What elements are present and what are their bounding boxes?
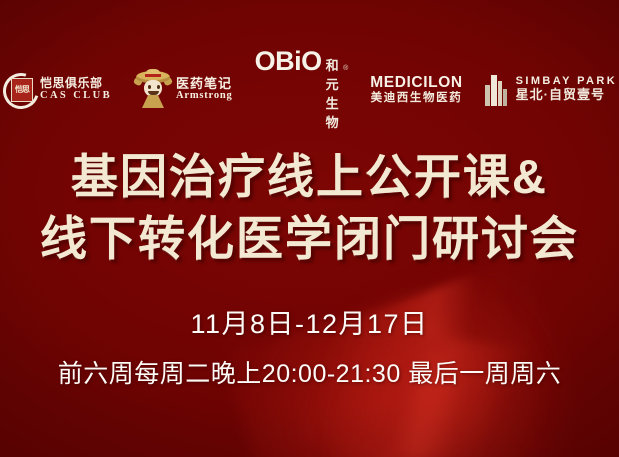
- event-title-line-2: 线下转化医学闭门研讨会: [0, 208, 619, 270]
- medicilon-cn-name: 美迪西生物医药: [370, 92, 462, 104]
- medicilon-en-name: MEDICILON: [370, 74, 462, 92]
- cas-club-monogram-icon: 恺思: [2, 72, 36, 106]
- logo-medicilon: MEDICILON 美迪西生物医药: [359, 74, 473, 104]
- obio-cn-name: 和元生物: [326, 55, 340, 131]
- registered-trademark-icon: ®: [343, 65, 348, 72]
- event-date-range: 11月8日-12月17日: [0, 302, 619, 341]
- simbay-park-cn-name: 星北·自贸壹号: [516, 88, 617, 102]
- cas-club-cn-name: 恺思俱乐部: [40, 77, 112, 90]
- armstrong-en-name: Armstrong: [176, 90, 233, 101]
- obio-wordmark-icon: OBiO: [255, 48, 322, 75]
- cas-club-en-name: CAS CLUB: [40, 90, 112, 101]
- logo-armstrong: 医药笔记 Armstrong: [123, 69, 244, 109]
- logo-obio: OBiO 和元生物 ®: [244, 48, 360, 131]
- partner-logo-strip: 恺思 恺思俱乐部 CAS CLUB 医药笔记 Ar: [0, 58, 619, 120]
- event-title-line-1: 基因治疗线上公开课&: [0, 146, 619, 208]
- ribbon-swoop: [205, 247, 614, 457]
- logo-simbay-park: SIMBAY PARK 星北·自贸壹号: [474, 72, 619, 106]
- armstrong-cn-name: 医药笔记: [176, 77, 233, 91]
- event-poster: 恺思 恺思俱乐部 CAS CLUB 医药笔记 Ar: [0, 0, 619, 457]
- logo-cas-club: 恺思 恺思俱乐部 CAS CLUB: [0, 72, 123, 106]
- event-title: 基因治疗线上公开课& 线下转化医学闭门研讨会: [0, 146, 619, 270]
- building-tower-icon: [485, 72, 507, 106]
- cas-seal-text: 恺思: [15, 86, 29, 94]
- event-schedule: 前六周每周二晚上20:00-21:30 最后一周周六: [0, 354, 619, 390]
- straw-hat-character-icon: [134, 69, 172, 109]
